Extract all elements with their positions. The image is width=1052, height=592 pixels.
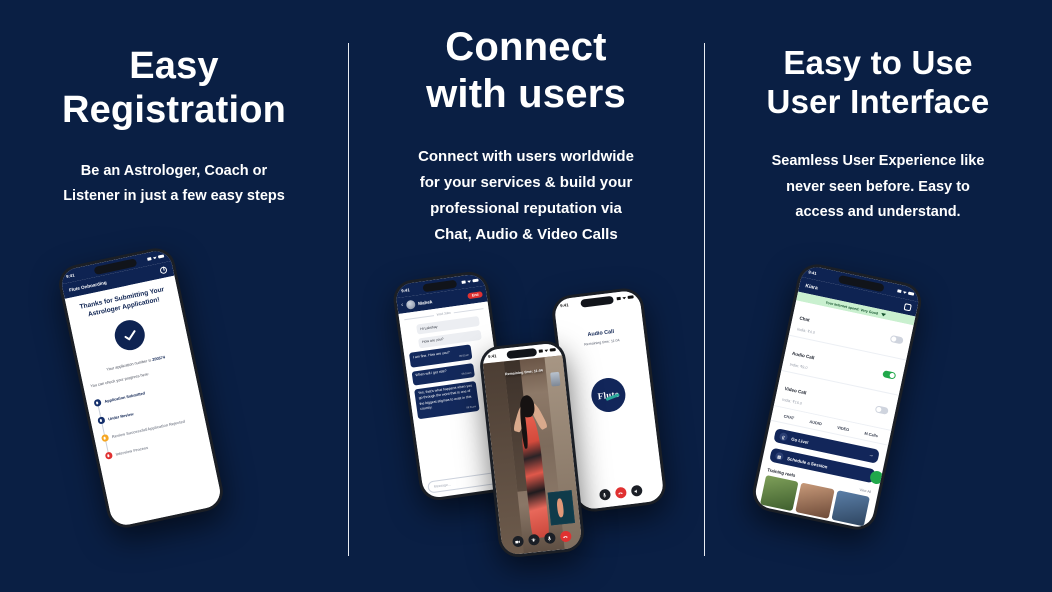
step-dot-pending-icon (101, 434, 109, 442)
column-2-subtitle-line3: professional reputation via (392, 196, 660, 222)
audio-remaining-time: Remaining time: 11:04 (584, 338, 620, 346)
wifi-icon (902, 290, 907, 294)
step-dot-active-icon (97, 417, 105, 425)
column-1-subtitle-line2: Listener in just a few easy steps (40, 184, 308, 209)
column-2-subtitle-line2: for your services & build your (392, 170, 660, 196)
chat-date-label: Wed 3dec (436, 311, 451, 317)
chat-bubble-outgoing: Yes, that's what happens when you go thr… (414, 381, 480, 419)
video-background-artwork (548, 490, 575, 525)
reel-thumbnail[interactable] (831, 490, 870, 526)
battery-icon (550, 348, 556, 352)
column-2-subtitle-line1: Connect with users worldwide (392, 144, 660, 170)
column-3-heading: Easy to Use User Interface (704, 44, 1052, 121)
column-2-heading-line2: with users (348, 71, 704, 118)
status-time: 9:41 (560, 302, 569, 308)
column-easy-registration: Easy Registration Be an Astrologer, Coac… (0, 0, 348, 592)
signal-icon (147, 257, 152, 261)
progress-steps: Application Submitted Under Review Revie… (92, 374, 203, 465)
service-toggle-chat[interactable] (890, 335, 904, 345)
column-3-subtitle-line2: never seen before. Easy to (738, 175, 1018, 200)
signal-icon (617, 297, 621, 300)
column-2-heading-line1: Connect (348, 24, 704, 71)
video-self-preview[interactable] (550, 372, 560, 387)
step-dot-done-icon (94, 399, 102, 407)
service-toggle-video-call[interactable] (875, 405, 889, 415)
camera-switch-icon[interactable] (527, 534, 539, 546)
battery-icon (472, 279, 478, 283)
video-call-stream: Remaining time: 11:04 (483, 355, 583, 555)
battery-icon (627, 295, 633, 299)
application-number-row: Your application number is 200574 (87, 351, 184, 376)
column-2-subtitle: Connect with users worldwide for your se… (348, 144, 704, 249)
tab-missed-calls[interactable]: M.Calls (864, 431, 878, 439)
column-3-subtitle-line1: Seamless User Experience like (738, 149, 1018, 174)
service-price: India: ₹4.0 (797, 326, 816, 335)
column-3-subtitle: Seamless User Experience like never seen… (704, 149, 1052, 225)
column-1-subtitle: Be an Astrologer, Coach or Listener in j… (0, 159, 348, 210)
service-title: Chat (799, 316, 810, 323)
step-label: Under Review (108, 411, 134, 421)
avatar (406, 299, 416, 309)
end-call-icon[interactable] (614, 487, 626, 499)
chat-input-placeholder: Message... (434, 482, 452, 488)
step-label: Interview Process (115, 445, 148, 457)
flute-logo: Flute (589, 376, 627, 414)
video-icon[interactable] (512, 535, 524, 547)
power-icon[interactable] (159, 266, 167, 274)
service-toggle-audio-call[interactable] (882, 370, 896, 380)
signal-icon (539, 349, 543, 352)
column-1-heading-line2: Registration (0, 88, 348, 132)
marketing-feature-banner: Easy Registration Be an Astrologer, Coac… (0, 0, 1052, 592)
chat-bubble-text: How are you? (422, 337, 444, 344)
wifi-icon (622, 296, 626, 299)
calendar-icon: ▤ (775, 452, 784, 461)
step-dot-final-icon (105, 452, 113, 460)
reel-thumbnail[interactable] (796, 483, 835, 519)
application-number-label: Your application number is (106, 358, 152, 372)
reel-thumbnail[interactable] (760, 475, 799, 511)
step-label: Application Submitted (104, 390, 145, 403)
service-title: Audio Call (792, 351, 815, 361)
audio-call-title: Audio Call (587, 329, 614, 338)
phone-onboarding: 9:41 Flute Onboarding Thanks for Submitt… (55, 245, 226, 532)
check-icon (112, 318, 148, 354)
audio-call-controls (577, 482, 664, 503)
end-call-icon[interactable] (559, 530, 571, 542)
flute-logo-text: Flute (597, 389, 620, 402)
mic-icon[interactable] (598, 489, 610, 501)
battery-icon (908, 292, 914, 296)
end-call-button[interactable]: End (467, 291, 483, 299)
signal-icon (461, 280, 465, 284)
application-number-value: 200574 (152, 355, 166, 363)
training-reels-view-all[interactable]: View All (859, 487, 871, 493)
chat-bubble-text: Hi Lakshay (420, 324, 438, 330)
column-1-heading-line1: Easy (0, 44, 348, 88)
wifi-icon (467, 280, 471, 284)
column-1-heading: Easy Registration (0, 44, 348, 133)
column-1-subtitle-line1: Be an Astrologer, Coach or (40, 159, 308, 184)
video-person (514, 396, 556, 537)
signal-icon (897, 289, 902, 293)
service-title: Video Call (784, 386, 807, 395)
status-time: 9:41 (66, 272, 75, 279)
bell-icon[interactable] (904, 303, 912, 311)
arrow-right-icon: → (868, 452, 874, 459)
wifi-icon (152, 256, 157, 260)
tab-chat[interactable]: CHAT (783, 413, 794, 420)
profile-name: Kiara (805, 283, 818, 291)
tab-video[interactable]: VIDEO (837, 425, 850, 432)
status-time: 9:41 (808, 269, 817, 276)
go-live-label: Go Live! (791, 436, 809, 445)
tab-audio[interactable]: AUDIO (809, 419, 822, 426)
column-2-heading: Connect with users (348, 24, 704, 118)
wifi-icon (881, 312, 887, 317)
column-2-subtitle-line4: Chat, Audio & Video Calls (392, 222, 660, 248)
column-3-subtitle-line3: access and understand. (738, 200, 1018, 225)
mic-icon[interactable] (543, 532, 555, 544)
broadcast-icon: (( (779, 432, 788, 441)
chevron-left-icon[interactable]: ‹ (401, 302, 404, 308)
column-3-heading-line1: Easy to Use (704, 44, 1052, 83)
onboarding-body: Thanks for Submitting Your Astrologer Ap… (65, 276, 223, 528)
service-price: India: ₹9.0 (789, 362, 812, 372)
battery-icon (158, 254, 164, 258)
wifi-icon (544, 349, 548, 352)
speaker-icon[interactable] (630, 485, 642, 497)
column-3-heading-line2: User Interface (704, 83, 1052, 122)
status-time: 9:41 (401, 287, 410, 293)
service-price: India: ₹16.0 (782, 397, 805, 406)
status-time: 9:41 (488, 353, 497, 359)
chat-contact-name: Mahek (418, 294, 465, 306)
